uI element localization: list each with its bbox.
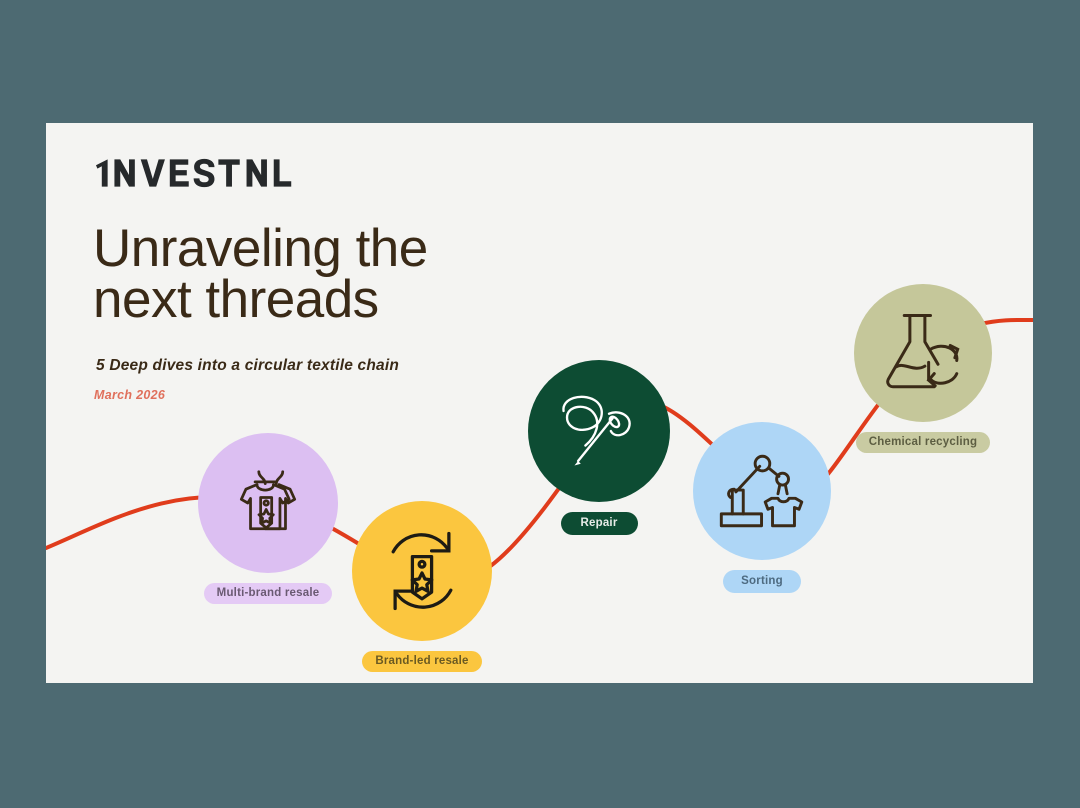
page-subtitle: 5 Deep dives into a circular textile cha… [96, 357, 399, 375]
circular-arrows-with-price-tag-icon [374, 523, 470, 619]
slide-canvas: Unraveling the next threads 5 Deep dives… [0, 0, 1080, 808]
page-title: Unraveling the next threads [93, 223, 563, 326]
repair-bubble [528, 360, 670, 502]
publication-date: March 2026 [94, 388, 165, 402]
flask-with-recycling-arrows-icon [876, 308, 970, 398]
needle-and-thread-icon [549, 385, 649, 477]
presentation-card: Unraveling the next threads 5 Deep dives… [46, 123, 1033, 683]
sorting-label: Sorting [723, 570, 801, 593]
flow-node-repair[interactable]: Repair [528, 360, 670, 535]
brand-led-resale-bubble [352, 501, 492, 641]
robotic-arm-sorting-tshirt-icon [714, 446, 810, 536]
flow-node-chemical-recycling[interactable]: Chemical recycling [854, 284, 992, 453]
multi-brand-resale-bubble [198, 433, 338, 573]
two-tshirts-on-hangers-with-price-tag-icon [222, 457, 314, 549]
repair-label: Repair [561, 512, 638, 535]
chemical-recycling-label: Chemical recycling [856, 432, 990, 453]
sorting-bubble [693, 422, 831, 560]
brand-led-resale-label: Brand-led resale [362, 651, 481, 672]
flow-node-sorting[interactable]: Sorting [693, 422, 831, 593]
flow-node-brand-led-resale[interactable]: Brand-led resale [352, 501, 492, 672]
flow-node-multi-brand-resale[interactable]: Multi-brand resale [198, 433, 338, 604]
chemical-recycling-bubble [854, 284, 992, 422]
investnl-logo [95, 156, 299, 190]
multi-brand-resale-label: Multi-brand resale [204, 583, 333, 604]
